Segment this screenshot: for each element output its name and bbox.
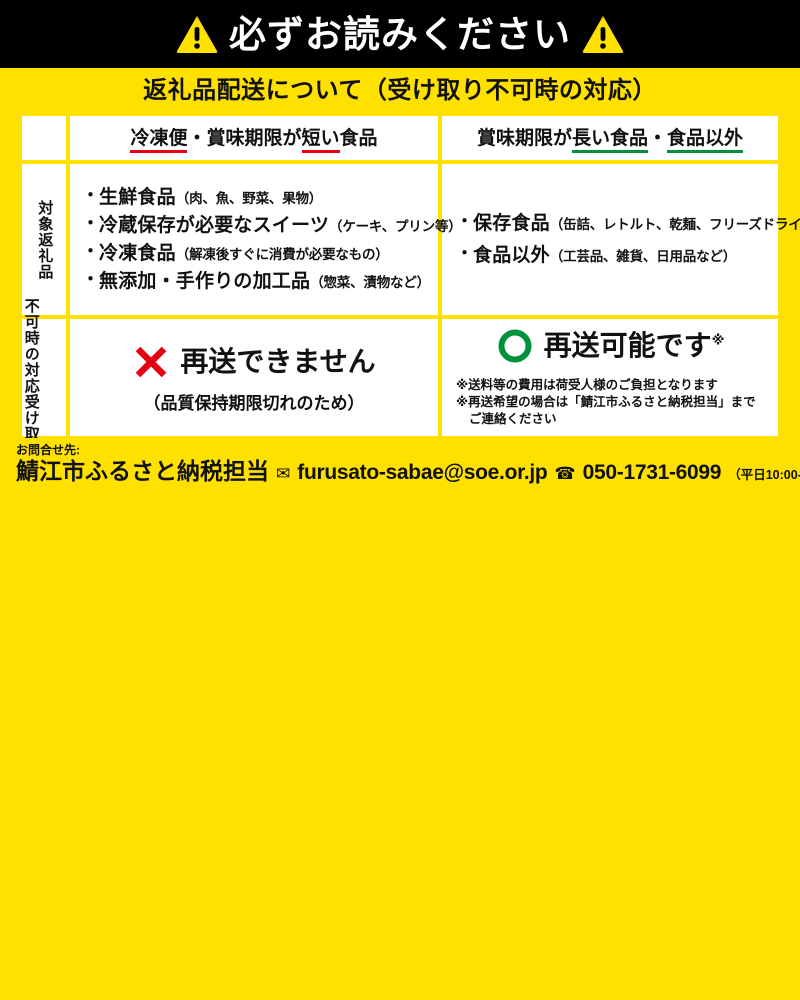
- contact-email[interactable]: furusato-sabae@soe.or.jp: [297, 462, 547, 483]
- poster-root: 必ずお読みください 返礼品配送について（受け取り不可時の対応） 冷凍便・賞味期限…: [0, 0, 800, 500]
- page-title: 必ずお読みください: [229, 16, 571, 53]
- col-left-h3: 短い: [302, 128, 340, 153]
- contact-organization: 鯖江市ふるさと納税担当: [16, 460, 269, 483]
- result-line-left: 再送できません: [70, 343, 438, 381]
- comparison-table: 冷凍便・賞味期限が短い食品 賞味期限が長い食品・食品以外 対象返礼品: [20, 114, 780, 438]
- result-notes-right: ※送料等の費用は荷受人様のご負担となります ※再送希望の場合は「鯖江市ふるさと納…: [442, 377, 778, 428]
- list-item-sub: （缶詰、レトルト、乾麺、フリーズドライ）: [550, 217, 800, 232]
- list-item-sub: （惣菜、漬物など）: [310, 275, 430, 290]
- bullet-dot-icon: ・: [82, 270, 99, 289]
- warning-triangle-icon: [175, 14, 219, 54]
- table-header-row: 冷凍便・賞味期限が短い食品 賞味期限が長い食品・食品以外: [20, 114, 780, 162]
- warning-triangle-icon: [581, 14, 625, 54]
- list-item: ・生鮮食品（肉、魚、野菜、果物）: [82, 187, 438, 208]
- list-item-main: 生鮮食品: [99, 187, 176, 208]
- list-item-sub: （工芸品、雑貨、日用品など）: [550, 249, 736, 264]
- phone-icon: ☎: [554, 465, 575, 482]
- target-items-right-list: ・保存食品（缶詰、レトルト、乾麺、フリーズドライ） ・食品以外（工芸品、雑貨、日…: [442, 196, 778, 283]
- target-items-left-list: ・生鮮食品（肉、魚、野菜、果物） ・冷蔵保存が必要なスイーツ（ケーキ、プリン等）…: [70, 174, 438, 305]
- list-item: ・冷凍食品（解凍後すぐに消費が必要なもの）: [82, 243, 438, 264]
- contact-phone[interactable]: 050-1731-6099: [583, 462, 722, 483]
- result-line-right: 再送可能です※: [442, 327, 778, 365]
- row-label-text: 不可時の対応受け取り: [22, 319, 40, 436]
- envelope-icon: ✉: [276, 465, 290, 482]
- table-corner-cell: [20, 114, 68, 162]
- col-right-h2: 長い食品: [572, 128, 648, 153]
- list-item-sub: （解凍後すぐに消費が必要なもの）: [176, 247, 389, 262]
- circle-mark-icon: [496, 327, 534, 365]
- bullet-dot-icon: ・: [82, 186, 99, 205]
- list-item: ・冷蔵保存が必要なスイーツ（ケーキ、プリン等）: [82, 215, 438, 236]
- list-item-main: 食品以外: [473, 245, 550, 266]
- result-text-right: 再送可能です※: [544, 332, 725, 360]
- header-band: 必ずお読みください: [0, 0, 800, 68]
- result-text-right-main: 再送可能です: [544, 330, 712, 361]
- contact-label: お問合せ先:: [16, 444, 800, 457]
- column-header-left: 冷凍便・賞味期限が短い食品: [68, 114, 440, 162]
- result-note-left: （品質保持期限切れのため）: [70, 395, 438, 412]
- col-right-sep: ・: [648, 128, 667, 149]
- bullet-dot-icon: ・: [456, 212, 473, 231]
- list-item: ・無添加・手作りの加工品（惣菜、漬物など）: [82, 271, 438, 292]
- list-item-sub: （ケーキ、プリン等）: [329, 219, 461, 234]
- row-label-line2: 不可時の対応: [22, 298, 40, 394]
- list-item: ・保存食品（缶詰、レトルト、乾麺、フリーズドライ）: [456, 213, 778, 234]
- contact-hours: （平日10:00-17:00対応）: [728, 469, 800, 482]
- note-line: ご連絡ください: [456, 411, 778, 428]
- col-right-h3: 食品以外: [667, 128, 743, 153]
- row-label-text: 対象返礼品: [36, 164, 53, 315]
- contact-line: 鯖江市ふるさと納税担当 ✉ furusato-sabae@soe.or.jp ☎…: [16, 460, 800, 483]
- cell-left-result: 再送できません （品質保持期限切れのため）: [68, 317, 440, 438]
- table-row: 対象返礼品 ・生鮮食品（肉、魚、野菜、果物） ・冷蔵保存が必要なスイーツ（ケーキ…: [20, 162, 780, 317]
- cell-left-target-items: ・生鮮食品（肉、魚、野菜、果物） ・冷蔵保存が必要なスイーツ（ケーキ、プリン等）…: [68, 162, 440, 317]
- comparison-table-wrap: 冷凍便・賞味期限が短い食品 賞味期限が長い食品・食品以外 対象返礼品: [20, 114, 780, 438]
- list-item: ・食品以外（工芸品、雑貨、日用品など）: [456, 245, 778, 266]
- col-left-h1: 冷凍便: [130, 128, 187, 153]
- subtitle-text: 返礼品配送について（受け取り不可時の対応）: [143, 79, 657, 103]
- col-left-h2: 賞味期限が: [206, 128, 301, 149]
- note-line: ※再送希望の場合は「鯖江市ふるさと納税担当」まで: [456, 394, 778, 411]
- list-item-main: 保存食品: [473, 213, 550, 234]
- bullet-dot-icon: ・: [82, 242, 99, 261]
- row-label-undeliverable: 不可時の対応受け取り: [20, 317, 68, 438]
- col-left-sep: ・: [187, 128, 206, 149]
- list-item-main: 冷凍食品: [99, 243, 176, 264]
- col-left-h4: 食品: [340, 128, 378, 149]
- list-item-sub: （肉、魚、野菜、果物）: [176, 191, 322, 206]
- cell-right-result: 再送可能です※ ※送料等の費用は荷受人様のご負担となります ※再送希望の場合は「…: [440, 317, 780, 438]
- note-line: ※送料等の費用は荷受人様のご負担となります: [456, 377, 778, 394]
- result-text-left: 再送できません: [180, 348, 375, 376]
- list-item-main: 無添加・手作りの加工品: [99, 271, 310, 292]
- column-header-right: 賞味期限が長い食品・食品以外: [440, 114, 780, 162]
- footer-contact: お問合せ先: 鯖江市ふるさと納税担当 ✉ furusato-sabae@soe.…: [0, 438, 800, 500]
- bullet-dot-icon: ・: [82, 214, 99, 233]
- subtitle-band: 返礼品配送について（受け取り不可時の対応）: [0, 68, 800, 114]
- bullet-dot-icon: ・: [456, 244, 473, 263]
- cell-right-target-items: ・保存食品（缶詰、レトルト、乾麺、フリーズドライ） ・食品以外（工芸品、雑貨、日…: [440, 162, 780, 317]
- result-superscript: ※: [712, 333, 725, 348]
- col-right-h1: 賞味期限が: [477, 128, 572, 149]
- cross-mark-icon: [132, 343, 170, 381]
- list-item-main: 冷蔵保存が必要なスイーツ: [99, 215, 329, 236]
- table-row: 不可時の対応受け取り 再送できません （品質保持期限切れのため）: [20, 317, 780, 438]
- row-label-target-items: 対象返礼品: [20, 162, 68, 317]
